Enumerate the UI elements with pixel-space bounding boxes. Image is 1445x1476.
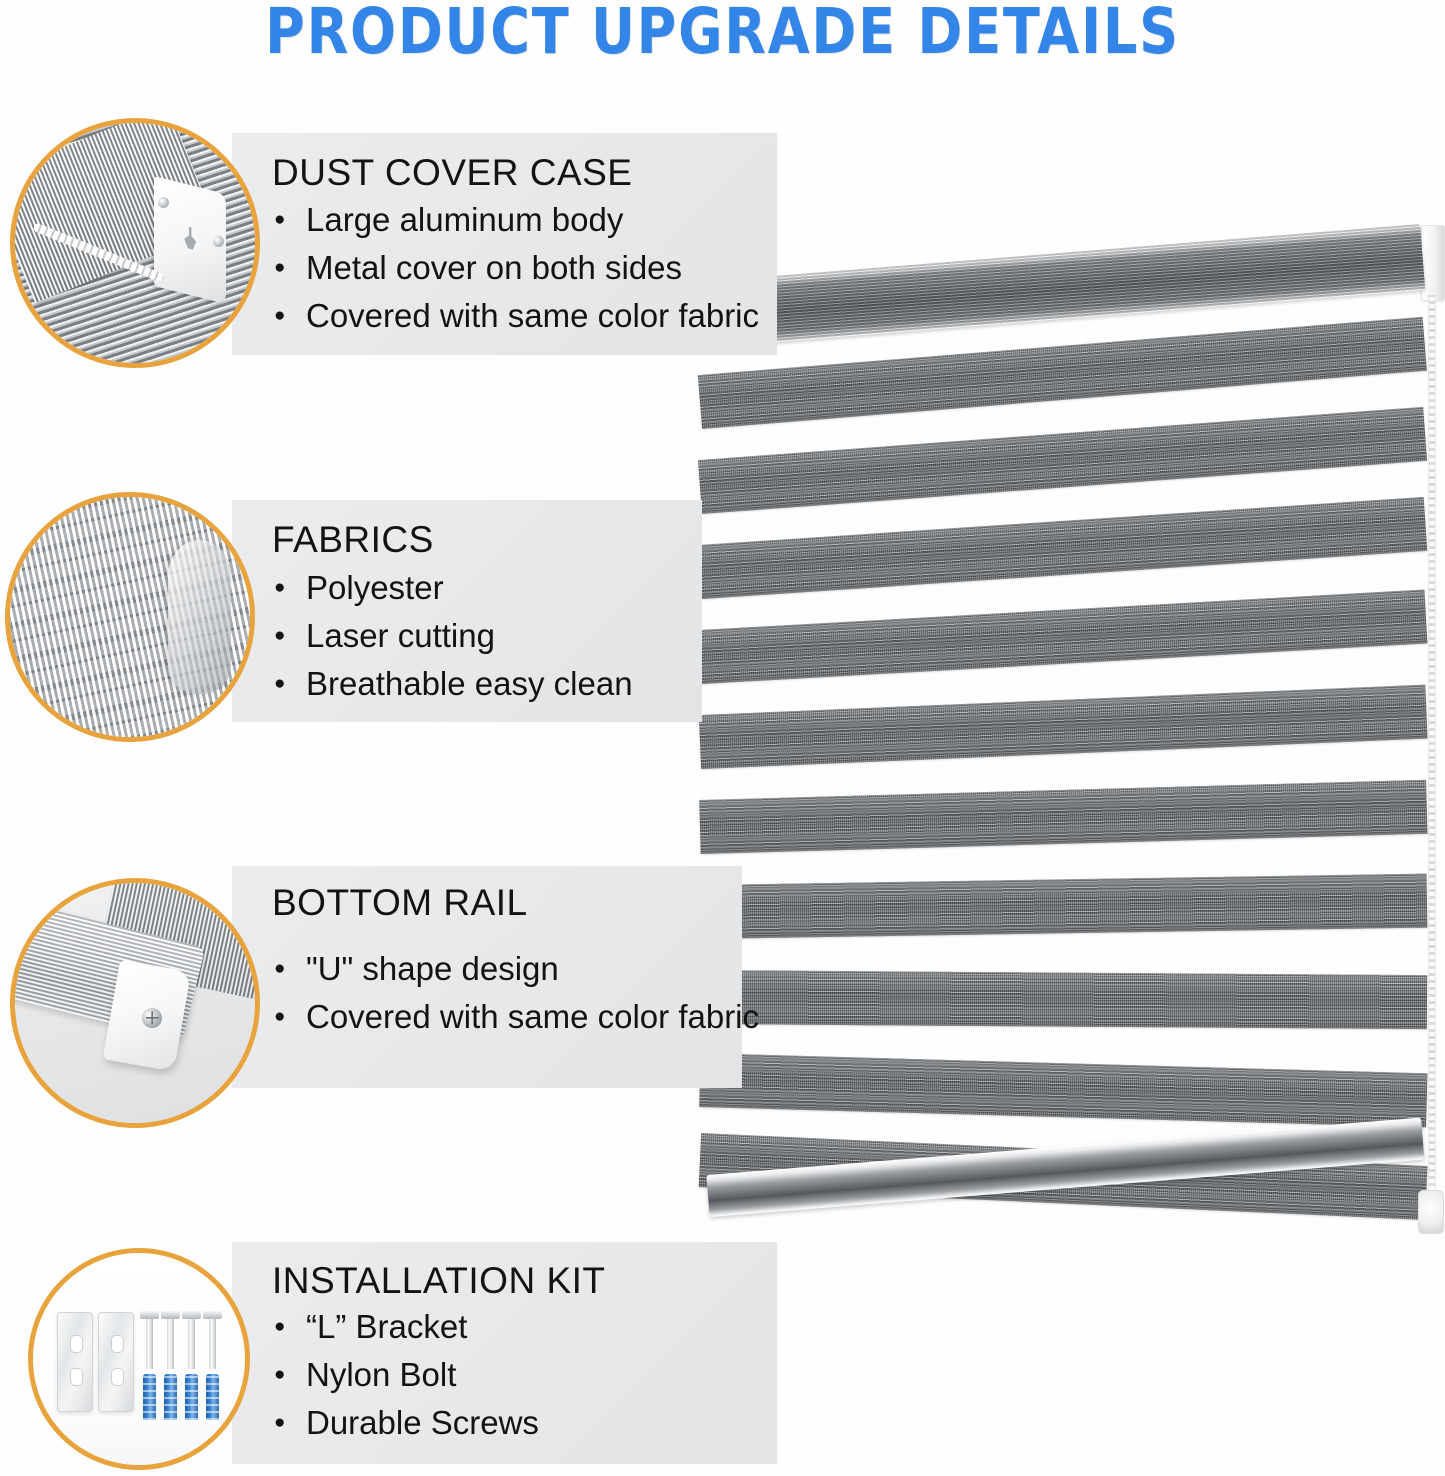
bullet-item: Covered with same color fabric	[272, 993, 759, 1041]
screw	[167, 1317, 174, 1369]
infographic-page: PRODUCT UPGRADE DETAILS	[0, 0, 1445, 1476]
blind-band	[699, 685, 1428, 769]
bullet-item: Large aluminum body	[272, 196, 759, 244]
nylon-bolt-anchor	[185, 1374, 198, 1420]
feature-title: INSTALLATION KIT	[272, 1260, 606, 1302]
screw	[209, 1317, 216, 1369]
fabrics-photo	[5, 492, 255, 742]
feature-bullets: "U" shape design Covered with same color…	[272, 945, 759, 1041]
nylon-bolt-anchor	[206, 1374, 219, 1420]
page-title: PRODUCT UPGRADE DETAILS	[101, 0, 1344, 68]
blind-band	[698, 497, 1427, 599]
feature-bullets: “L” Bracket Nylon Bolt Durable Screws	[272, 1303, 539, 1447]
blind-band	[698, 407, 1427, 514]
feature-bullets: Polyester Laser cutting Breathable easy …	[272, 564, 633, 708]
feature-title: DUST COVER CASE	[272, 152, 632, 194]
bottom-rail-photo	[10, 878, 260, 1128]
blind-band	[700, 874, 1428, 939]
bullet-item: Laser cutting	[272, 612, 633, 660]
screw-dot	[158, 197, 169, 208]
bullet-item: Nylon Bolt	[272, 1351, 539, 1399]
product-blind-image	[700, 225, 1445, 1285]
bullet-item: “L” Bracket	[272, 1303, 539, 1351]
screw	[188, 1317, 195, 1369]
bead-chain[interactable]	[1428, 295, 1436, 1200]
bullet-item: "U" shape design	[272, 945, 759, 993]
installation-kit-photo	[28, 1248, 250, 1470]
bullet-item: Breathable easy clean	[272, 660, 633, 708]
fabric-roll-edge	[168, 540, 230, 694]
l-bracket	[98, 1312, 134, 1412]
bullet-item: Metal cover on both sides	[272, 244, 759, 292]
blind-band	[700, 970, 1427, 1029]
screw	[146, 1317, 153, 1369]
bullet-item: Covered with same color fabric	[272, 292, 759, 340]
bullet-item: Polyester	[272, 564, 633, 612]
l-bracket	[57, 1312, 93, 1412]
screw-dot	[213, 236, 224, 247]
nylon-bolt-anchor	[143, 1374, 156, 1420]
blind-right-bracket	[1421, 225, 1445, 301]
dust-cover-case-photo	[10, 118, 260, 368]
chain-tensioner[interactable]	[1418, 1190, 1444, 1234]
rail-screw	[142, 1008, 162, 1028]
blind-band	[699, 780, 1427, 854]
blind-band	[699, 1053, 1427, 1127]
feature-title: FABRICS	[272, 519, 434, 561]
bullet-item: Durable Screws	[272, 1399, 539, 1447]
nylon-bolt-anchor	[164, 1374, 177, 1420]
feature-title: BOTTOM RAIL	[272, 882, 528, 924]
feature-bullets: Large aluminum body Metal cover on both …	[272, 196, 759, 340]
blind-band	[698, 589, 1427, 683]
